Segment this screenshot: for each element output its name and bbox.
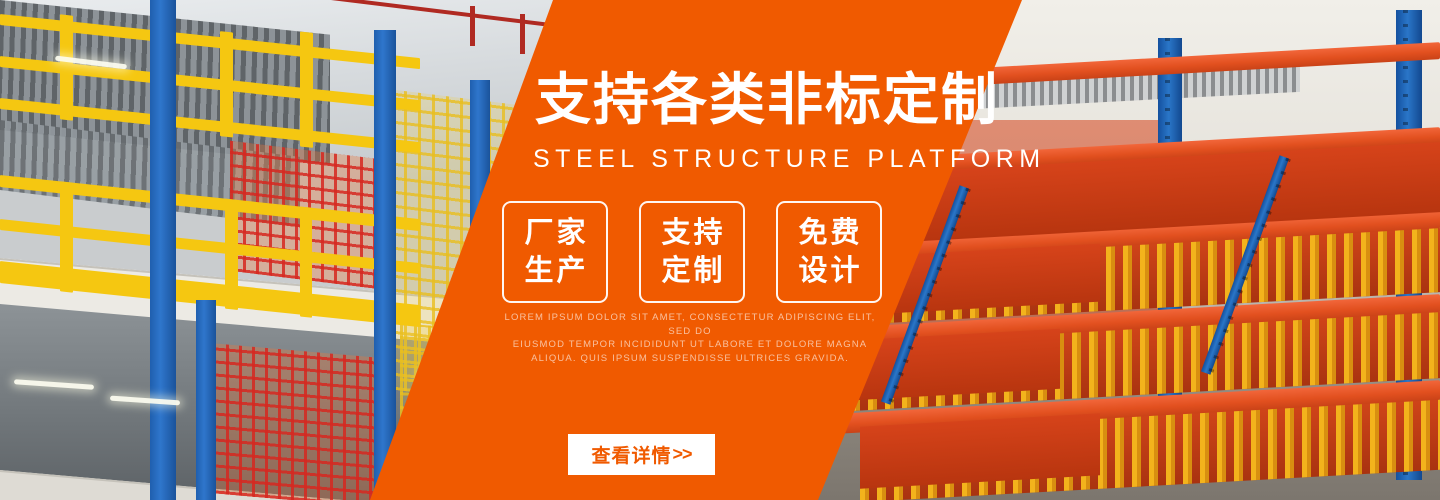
view-details-label: 查看详情 — [591, 441, 671, 468]
description-line-3: ALIQUA. QUIS IPSUM SUSPENDISSE ULTRICES … — [500, 352, 880, 366]
subtitle: STEEL STRUCTURE PLATFORM — [533, 145, 1046, 174]
feature-badge-list: 厂家 生产 支持 定制 免费 设计 — [502, 201, 882, 303]
feature-badge-manufacturer: 厂家 生产 — [502, 201, 608, 303]
badge-line-2: 生产 — [521, 252, 588, 290]
promo-banner: 支持各类非标定制 STEEL STRUCTURE PLATFORM 厂家 生产 … — [0, 0, 1440, 500]
feature-badge-free-design: 免费 设计 — [776, 201, 882, 303]
page-title: 支持各类非标定制 — [535, 72, 999, 128]
description-line-1: LOREM IPSUM DOLOR SIT AMET, CONSECTETUR … — [500, 311, 880, 338]
badge-line-1: 免费 — [795, 214, 862, 252]
badge-line-2: 设计 — [795, 252, 862, 290]
double-chevron-right-icon: >> — [672, 444, 691, 465]
badge-line-1: 厂家 — [521, 214, 588, 252]
badge-line-2: 定制 — [658, 252, 725, 290]
description-line-2: EIUSMOD TEMPOR INCIDIDUNT UT LABORE ET D… — [500, 338, 880, 352]
description-text: LOREM IPSUM DOLOR SIT AMET, CONSECTETUR … — [500, 311, 880, 365]
view-details-button[interactable]: 查看详情 >> — [568, 434, 715, 475]
feature-badge-customization: 支持 定制 — [639, 201, 745, 303]
banner-content: 支持各类非标定制 STEEL STRUCTURE PLATFORM 厂家 生产 … — [0, 0, 1440, 500]
badge-line-1: 支持 — [658, 214, 725, 252]
